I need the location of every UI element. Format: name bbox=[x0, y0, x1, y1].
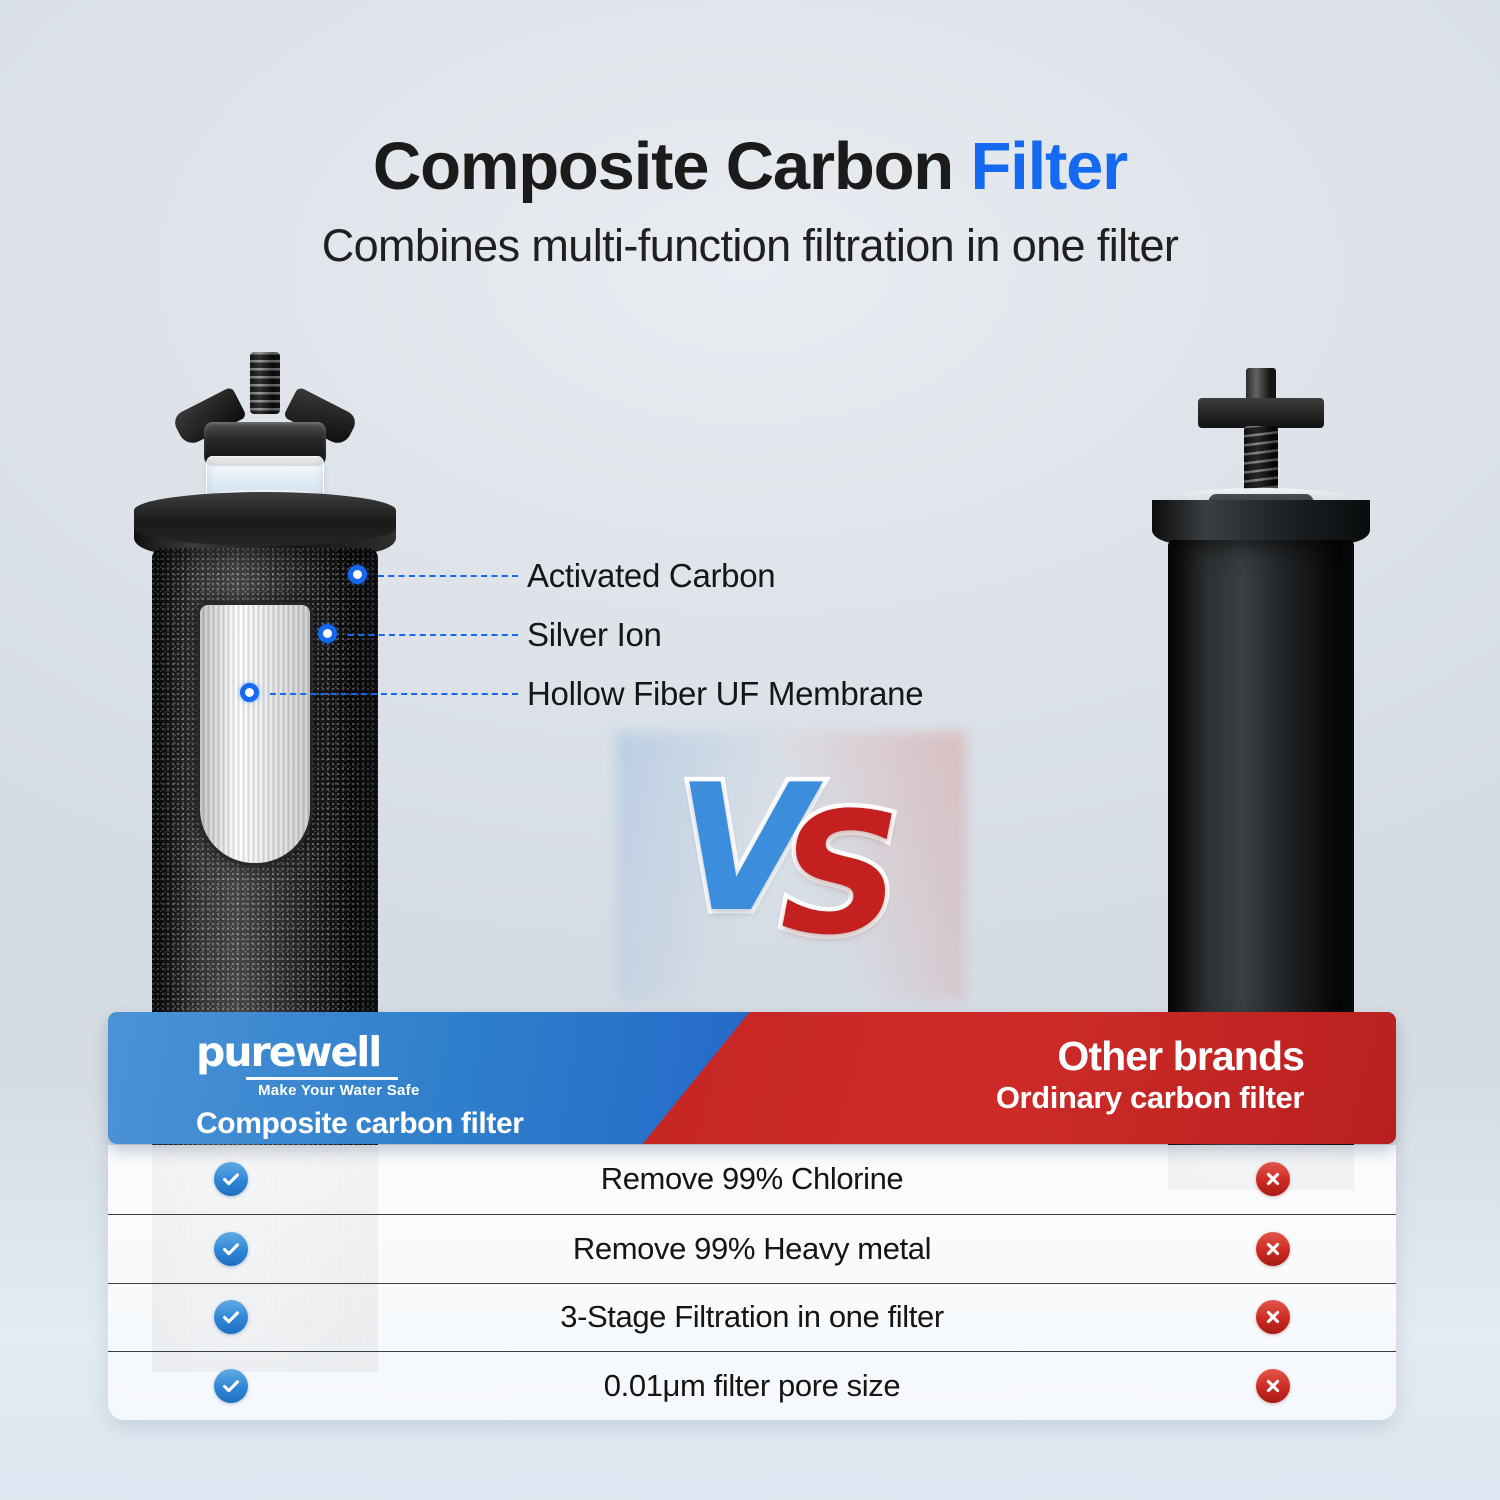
check-icon bbox=[214, 1232, 248, 1266]
other-brands-title: Other brands bbox=[996, 1034, 1304, 1078]
purewell-logo: purewell bbox=[196, 1032, 524, 1073]
callout-dot-uf-membrane bbox=[240, 683, 259, 702]
purewell-mark-cell bbox=[108, 1162, 354, 1196]
banner-purewell-side: purewell Make Your Water Safe Composite … bbox=[196, 1032, 524, 1141]
cross-icon bbox=[1256, 1232, 1290, 1266]
purewell-mark-cell bbox=[108, 1232, 354, 1266]
logo-underline bbox=[246, 1077, 398, 1080]
feature-label: 3-Stage Filtration in one filter bbox=[354, 1299, 1150, 1335]
callout-dot-activated-carbon bbox=[348, 565, 367, 584]
other-mark-cell bbox=[1150, 1300, 1396, 1334]
callout-label-activated-carbon: Activated Carbon bbox=[527, 557, 775, 595]
cross-icon bbox=[1256, 1162, 1290, 1196]
callout-label-uf-membrane: Hollow Fiber UF Membrane bbox=[527, 675, 923, 713]
cross-icon bbox=[1256, 1300, 1290, 1334]
banner-other-side: Other brands Ordinary carbon filter bbox=[996, 1034, 1304, 1116]
purewell-product-label: Composite carbon filter bbox=[196, 1107, 524, 1141]
feature-label: 0.01μm filter pore size bbox=[354, 1368, 1150, 1404]
feature-label: Remove 99% Chlorine bbox=[354, 1161, 1150, 1197]
table-row: 0.01μm filter pore size bbox=[108, 1351, 1396, 1420]
purewell-mark-cell bbox=[108, 1369, 354, 1403]
table-row: 3-Stage Filtration in one filter bbox=[108, 1283, 1396, 1352]
versus-letter-s: S bbox=[780, 790, 901, 958]
feature-label: Remove 99% Heavy metal bbox=[354, 1231, 1150, 1267]
table-row: Remove 99% Chlorine bbox=[108, 1145, 1396, 1214]
callout-label-silver-ion: Silver Ion bbox=[527, 616, 662, 654]
other-product-label: Ordinary carbon filter bbox=[996, 1080, 1304, 1116]
other-mark-cell bbox=[1150, 1162, 1396, 1196]
callout-dot-silver-ion bbox=[318, 624, 337, 643]
brand-tagline: Make Your Water Safe bbox=[258, 1082, 524, 1099]
purewell-mark-cell bbox=[108, 1300, 354, 1334]
other-mark-cell bbox=[1150, 1369, 1396, 1403]
check-icon bbox=[214, 1369, 248, 1403]
table-row: Remove 99% Heavy metal bbox=[108, 1214, 1396, 1283]
check-icon bbox=[214, 1300, 248, 1334]
other-mark-cell bbox=[1150, 1232, 1396, 1266]
infographic-canvas: Composite Carbon Filter Combines multi-f… bbox=[0, 0, 1500, 1500]
comparison-banner: purewell Make Your Water Safe Composite … bbox=[108, 1012, 1396, 1144]
callout-line-uf-membrane bbox=[270, 693, 518, 695]
callout-line-activated-carbon bbox=[378, 575, 518, 577]
check-icon bbox=[214, 1162, 248, 1196]
versus-badge: V S bbox=[676, 762, 906, 962]
callout-line-silver-ion bbox=[348, 634, 518, 636]
comparison-table: Remove 99% Chlorine Remove 99% Heavy met… bbox=[108, 1145, 1396, 1420]
cross-icon bbox=[1256, 1369, 1290, 1403]
